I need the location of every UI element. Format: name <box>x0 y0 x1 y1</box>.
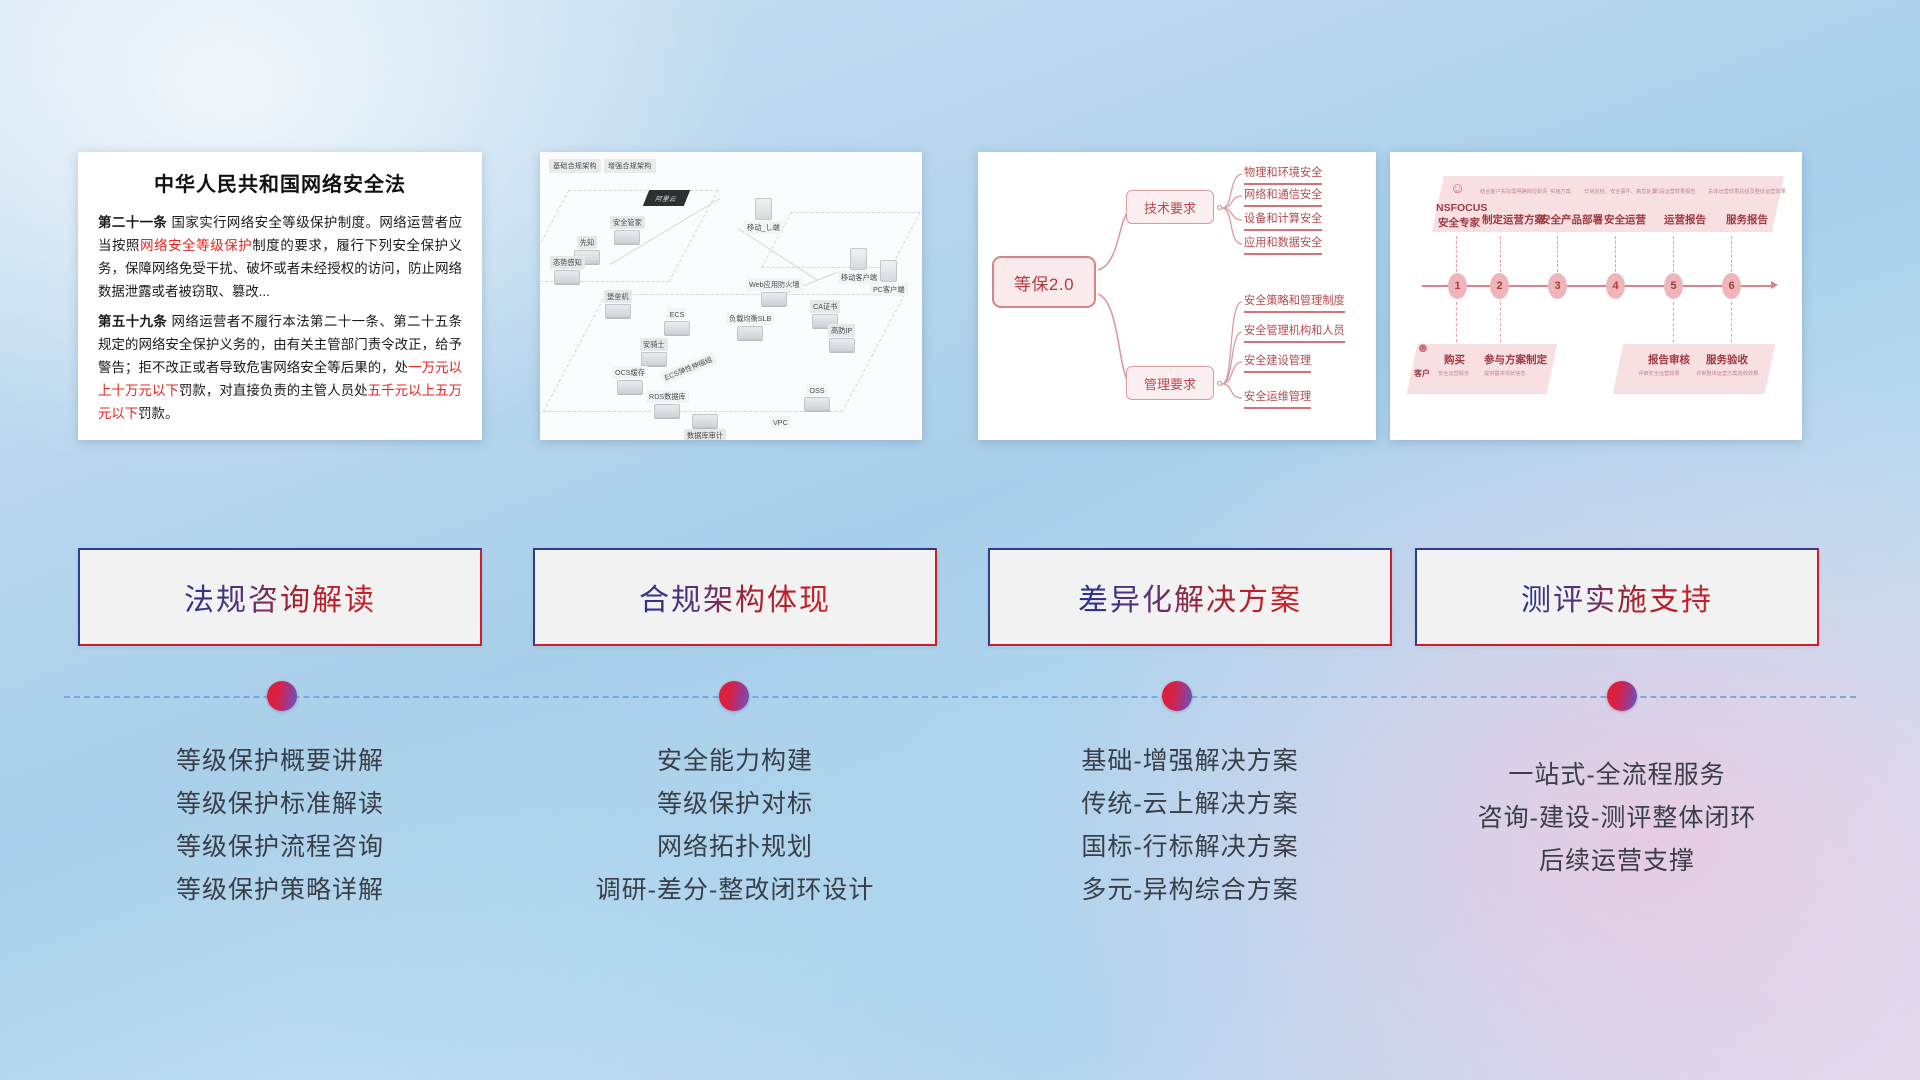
timeline-step-node[interactable]: 3 <box>1548 273 1567 299</box>
card-cybersecurity-law[interactable]: 中华人民共和国网络安全法 第二十一条 国家实行网络安全等级保护制度。网络运营者应… <box>78 152 482 440</box>
arch-zone-main <box>543 294 906 412</box>
arch-node-bastion-host: 堡垒机 <box>604 290 632 318</box>
mindmap-collapse-dot-technical[interactable] <box>1217 205 1222 210</box>
mindmap-leaf: 安全策略和管理制度 <box>1244 292 1345 313</box>
step-sub: 总体运营效果总结及整体运营效果 <box>1708 188 1786 195</box>
article-59-text-mid: 罚款，对直接负责的主管人员处 <box>179 383 368 398</box>
arch-node-waf: Web应用防火墙 <box>746 278 803 306</box>
list-item: 一站式-全流程服务 <box>1415 754 1819 797</box>
timeline-tick <box>1456 302 1457 342</box>
list-item: 后续运营支撑 <box>1415 840 1819 883</box>
timeline-tick <box>1673 236 1674 272</box>
arch-node-oss: OSS <box>804 384 830 411</box>
arch-cloud-tag: 阿里云 <box>643 190 690 206</box>
timeline-step-node[interactable]: 6 <box>1722 273 1741 299</box>
mindmap-leaf: 物理和环境安全 <box>1244 164 1322 185</box>
arch-node-mobile-terminal: 移动_し端 <box>744 198 783 234</box>
step-title: 运营报告 <box>1664 212 1706 227</box>
article-59-label: 第五十九条 <box>98 314 167 329</box>
expert-person-icon: ☺ <box>1450 180 1465 197</box>
timeline-marker-dot-4[interactable] <box>1607 681 1637 711</box>
arch-node-rds-database: RDS数据库 <box>646 390 689 418</box>
timeline-tick <box>1615 236 1616 272</box>
service-list-differentiated-solution: 基础-增强解决方案 传统-云上解决方案 国标-行标解决方案 多元-异构综合方案 <box>988 740 1392 912</box>
list-item: 等级保护标准解读 <box>78 783 482 826</box>
article-21-label: 第二十一条 <box>98 215 167 230</box>
timeline-step-node[interactable]: 5 <box>1664 273 1683 299</box>
timeline-tick <box>1500 302 1501 342</box>
arch-node-anti-ddos-ip: 高防IP <box>828 324 855 352</box>
timeline-step-node[interactable]: 2 <box>1490 273 1509 299</box>
arch-node-security-steward: 安全管家 <box>610 216 645 244</box>
service-lists-row: 等级保护概要讲解 等级保护标准解读 等级保护流程咨询 等级保护策略详解 安全能力… <box>0 740 1920 970</box>
arch-node-anqishi: 安骑士 <box>640 338 668 366</box>
step-title: 安全产品部署 <box>1540 212 1603 227</box>
bottom-step-title: 参与方案制定 <box>1484 352 1547 367</box>
timeline-connector <box>64 695 1856 699</box>
customer-label: 客户 <box>1414 368 1430 379</box>
list-item: 等级保护策略详解 <box>78 869 482 912</box>
mindmap-leaf: 网络和通信安全 <box>1244 186 1322 207</box>
arch-node-situation-awareness: 态势感知 <box>550 256 585 284</box>
bottom-step-sub: 评审安全运营效果 <box>1638 370 1680 377</box>
mindmap-leaf: 安全建设管理 <box>1244 352 1311 373</box>
arch-node-slb: 负载均衡SLB <box>726 312 774 340</box>
architecture-diagram: 基础合规架构 增强合规架构 阿里云 安全管家 先知 态势感知 <box>540 152 922 440</box>
customer-person-icon: ☻ <box>1416 340 1430 355</box>
category-title-label: 法规咨询解读 <box>184 575 376 619</box>
law-article-21: 第二十一条 国家实行网络安全等级保护制度。网络运营者应当按照网络安全等级保护制度… <box>98 211 462 303</box>
list-item: 网络拓扑规划 <box>533 826 937 869</box>
nsfocus-brand: NSFOCUS <box>1436 202 1487 214</box>
timeline-step-node[interactable]: 1 <box>1448 273 1467 299</box>
category-title-differentiated-solution[interactable]: 差异化解决方案 <box>988 548 1392 646</box>
timeline-tick <box>1731 236 1732 272</box>
nsfocus-expert-role: 安全专家 <box>1438 215 1480 230</box>
arch-node-db-audit: 数据库审计 <box>684 414 726 440</box>
timeline-tick <box>1673 302 1674 342</box>
mindmap-leaf: 安全管理机构和人员 <box>1244 322 1345 343</box>
mindmap-leaf: 应用和数据安全 <box>1244 234 1322 255</box>
list-item: 咨询-建设-测评整体闭环 <box>1415 797 1819 840</box>
timeline-tick <box>1731 302 1732 342</box>
timeline-tick <box>1500 236 1501 272</box>
timeline-dashed-line <box>64 696 1856 698</box>
category-title-regulation-consulting[interactable]: 法规咨询解读 <box>78 548 482 646</box>
step-sub: 实施方案 <box>1550 188 1571 195</box>
architecture-canvas: 阿里云 安全管家 先知 态势感知 堡垒机 移动_し端 <box>548 172 914 432</box>
list-item: 多元-异构综合方案 <box>988 869 1392 912</box>
mindmap-root-node[interactable]: 等保2.0 <box>992 256 1096 308</box>
step-title: 服务报告 <box>1726 212 1768 227</box>
service-list-regulation-consulting: 等级保护概要讲解 等级保护标准解读 等级保护流程咨询 等级保护策略详解 <box>78 740 482 912</box>
list-item: 等级保护对标 <box>533 783 937 826</box>
timeline-step-node[interactable]: 4 <box>1606 273 1625 299</box>
mindmap-leaf: 设备和计算安全 <box>1244 210 1322 231</box>
bottom-step-title: 购买 <box>1444 352 1465 367</box>
step-sub: 结合客户实际需明确岗位职责 <box>1480 188 1547 195</box>
timeline-axis <box>1422 285 1772 287</box>
list-item: 安全能力构建 <box>533 740 937 783</box>
timeline-arrow-icon <box>1771 281 1778 289</box>
bottom-step-sub: 提供基本现状信息 <box>1484 370 1526 377</box>
image-cards-row: 中华人民共和国网络安全法 第二十一条 国家实行网络安全等级保护制度。网络运营者应… <box>0 152 1920 442</box>
bottom-step-sub: 安全运营服务 <box>1438 370 1469 377</box>
arch-node-ecs: ECS <box>664 308 690 335</box>
card-mindmap-dengbao[interactable]: 等保2.0 技术要求 物理和环境安全 网络和通信安全 设备和计算安全 应用和数据… <box>978 152 1376 440</box>
tab-enhanced-architecture[interactable]: 增强合规架构 <box>604 159 656 173</box>
timeline-tick <box>1557 236 1558 272</box>
list-item: 国标-行标解决方案 <box>988 826 1392 869</box>
article-21-highlight: 网络安全等级保护 <box>140 238 252 253</box>
law-article-59: 第五十九条 网络运营者不履行本法第二十一条、第二十五条规定的网络安全保护义务的，… <box>98 310 462 425</box>
list-item: 等级保护流程咨询 <box>78 826 482 869</box>
list-item: 基础-增强解决方案 <box>988 740 1392 783</box>
service-list-assessment-support: 一站式-全流程服务 咨询-建设-测评整体闭环 后续运营支撑 <box>1415 754 1819 883</box>
step-sub: 阶段运营效果报告 <box>1654 188 1696 195</box>
step-title: 制定运营方案 <box>1482 212 1545 227</box>
list-item: 传统-云上解决方案 <box>988 783 1392 826</box>
arch-node-vpc: VPC <box>770 416 791 428</box>
list-item: 调研-差分-整改闭环设计 <box>533 869 937 912</box>
law-document: 中华人民共和国网络安全法 第二十一条 国家实行网络安全等级保护制度。网络运营者应… <box>78 152 482 440</box>
card-nsfocus-timeline[interactable]: ☺ NSFOCUS 安全专家 结合客户实际需明确岗位职责 制定运营方案 实施方案… <box>1390 152 1802 440</box>
bottom-step-title: 服务验收 <box>1706 352 1748 367</box>
mindmap-collapse-dot-management[interactable] <box>1217 381 1222 386</box>
bottom-step-title: 报告审核 <box>1648 352 1690 367</box>
arch-node-ocs-cache: OCS缓存 <box>612 366 648 394</box>
category-title-compliance-architecture[interactable]: 合规架构体现 <box>533 548 937 646</box>
article-59-text-end: 罚款。 <box>138 406 178 421</box>
category-title-assessment-support[interactable]: 测评实施支持 <box>1415 548 1819 646</box>
bottom-step-sub: 评审整体运营方案验收效果 <box>1696 370 1758 377</box>
arch-node-pc-client: PC客户端 <box>870 260 908 296</box>
card-cloud-architecture[interactable]: 基础合规架构 增强合规架构 阿里云 安全管家 先知 态势感知 <box>540 152 922 440</box>
mindmap-branch-management[interactable]: 管理要求 <box>1126 366 1214 400</box>
law-title: 中华人民共和国网络安全法 <box>98 168 462 197</box>
category-title-label: 差异化解决方案 <box>1078 575 1302 619</box>
timeline-tick <box>1456 236 1457 272</box>
service-list-compliance-architecture: 安全能力构建 等级保护对标 网络拓扑规划 调研-差分-整改闭环设计 <box>533 740 937 912</box>
nsfocus-customer-band-right <box>1613 344 1776 394</box>
step-title: 安全运营 <box>1604 212 1646 227</box>
list-item: 等级保护概要讲解 <box>78 740 482 783</box>
timeline-marker-dot-3[interactable] <box>1162 681 1192 711</box>
category-titles-row: 法规咨询解读 合规架构体现 差异化解决方案 测评实施支持 <box>0 548 1920 648</box>
nsfocus-process-diagram: ☺ NSFOCUS 安全专家 结合客户实际需明确岗位职责 制定运营方案 实施方案… <box>1390 152 1802 440</box>
timeline-marker-dot-2[interactable] <box>719 681 749 711</box>
mindmap-leaf: 安全运维管理 <box>1244 388 1311 409</box>
category-title-label: 测评实施支持 <box>1521 575 1713 619</box>
category-title-label: 合规架构体现 <box>639 575 831 619</box>
step-sub: 日常巡检、安全事件、高危处置 <box>1584 188 1657 195</box>
architecture-tabs: 基础合规架构 增强合规架构 <box>549 159 656 173</box>
timeline-marker-dot-1[interactable] <box>267 681 297 711</box>
mindmap-branch-technical[interactable]: 技术要求 <box>1126 190 1214 224</box>
mindmap: 等保2.0 技术要求 物理和环境安全 网络和通信安全 设备和计算安全 应用和数据… <box>978 152 1376 440</box>
tab-basic-architecture[interactable]: 基础合规架构 <box>549 159 601 173</box>
